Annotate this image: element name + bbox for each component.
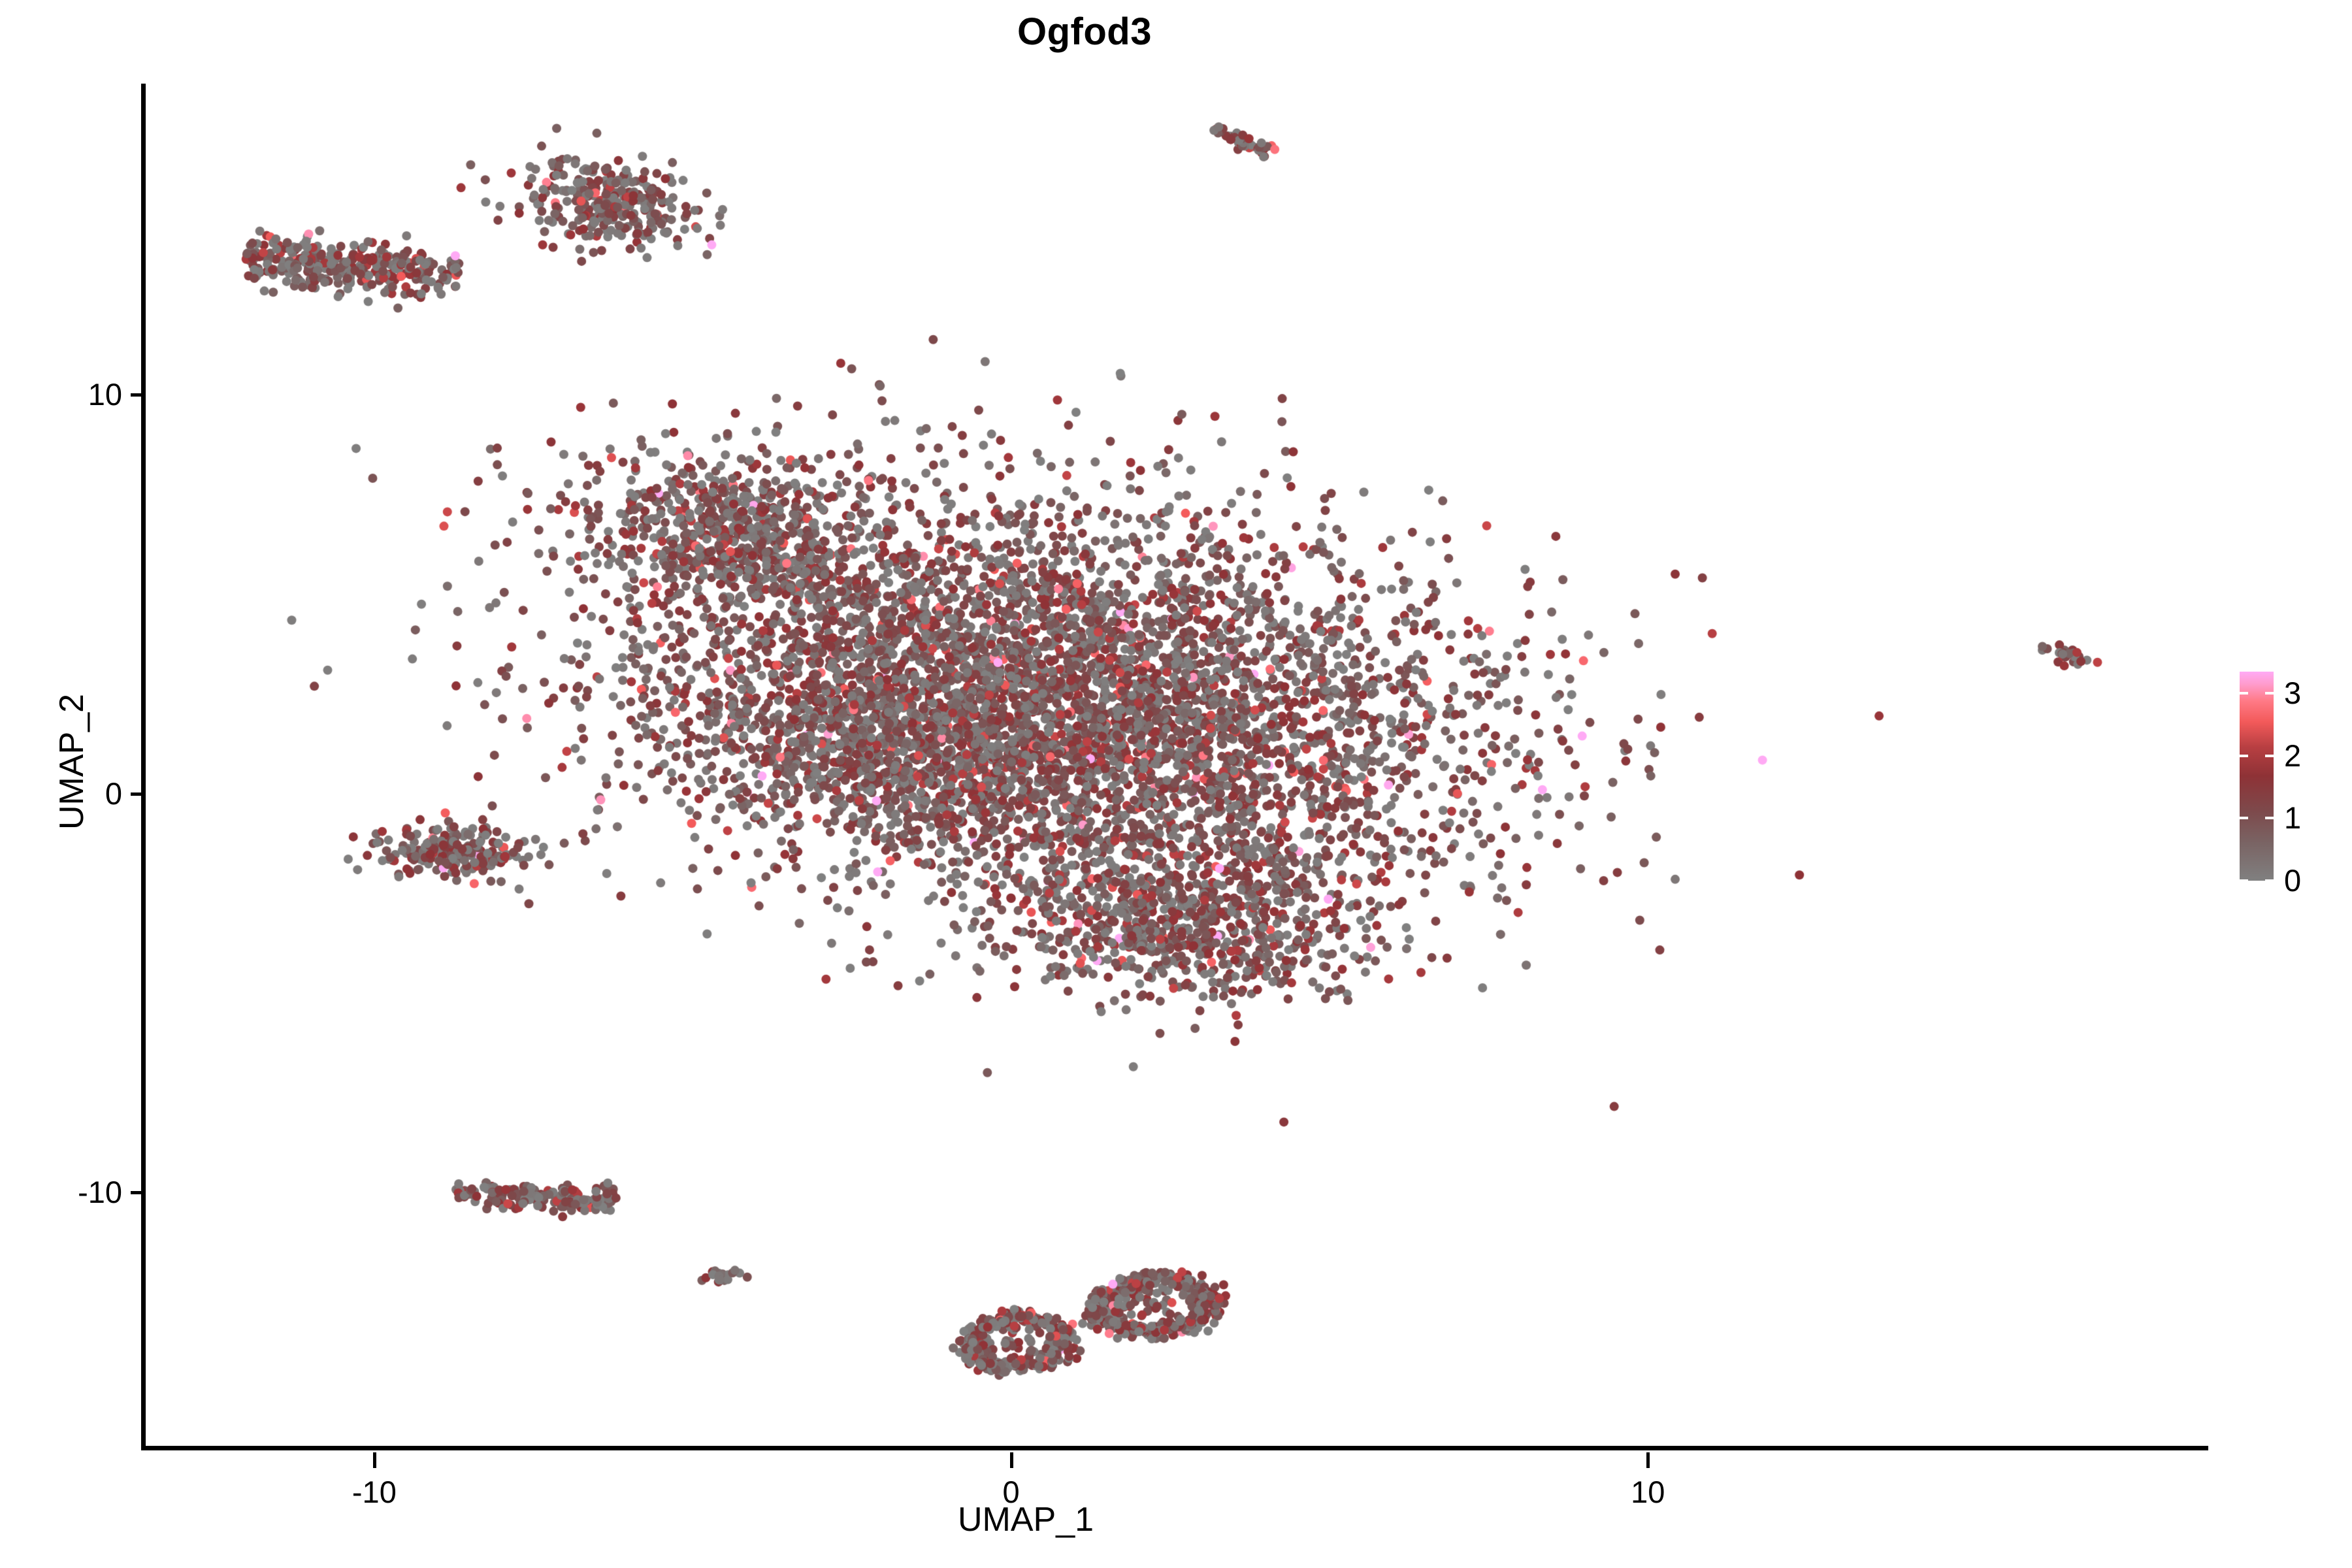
color-legend-gradient-bar — [2240, 672, 2274, 881]
color-legend-label: 1 — [2284, 802, 2301, 833]
color-legend-label: 2 — [2284, 740, 2301, 771]
y-tick-label: -10 — [0, 1177, 122, 1207]
feature-plot-root: Ogfod3 100-10 -10010 UMAP_1 UMAP_2 3210 — [0, 0, 2352, 1568]
page-title: Ogfod3 — [0, 13, 2169, 51]
color-legend-tick-mark — [2240, 692, 2248, 694]
color-legend-tick-mark — [2265, 879, 2274, 882]
color-legend-tick-mark — [2240, 817, 2248, 819]
color-legend-tick-mark — [2240, 755, 2248, 757]
x-tick-mark — [1646, 1452, 1650, 1468]
y-axis-title: UMAP_2 — [55, 579, 89, 945]
color-legend-tick-mark — [2265, 692, 2274, 694]
color-legend-tick-mark — [2265, 755, 2274, 757]
x-tick-mark — [373, 1452, 376, 1468]
y-tick-mark — [131, 792, 145, 796]
x-axis-title: UMAP_1 — [843, 1503, 1209, 1537]
umap-scatter-canvas — [145, 84, 2208, 1448]
y-tick-mark — [131, 393, 145, 397]
x-axis-line — [141, 1446, 2208, 1450]
color-legend: 3210 — [2234, 666, 2345, 889]
color-legend-label: 0 — [2284, 865, 2301, 896]
x-tick-mark — [1010, 1452, 1013, 1468]
y-axis-line — [141, 84, 146, 1450]
y-tick-label: 10 — [0, 379, 122, 410]
x-tick-label: 10 — [1569, 1477, 1726, 1507]
color-legend-tick-mark — [2240, 879, 2248, 882]
plot-panel — [145, 84, 2208, 1448]
color-legend-label: 3 — [2284, 678, 2301, 708]
color-legend-tick-mark — [2265, 817, 2274, 819]
y-tick-mark — [131, 1191, 145, 1194]
x-tick-label: -10 — [296, 1477, 453, 1507]
